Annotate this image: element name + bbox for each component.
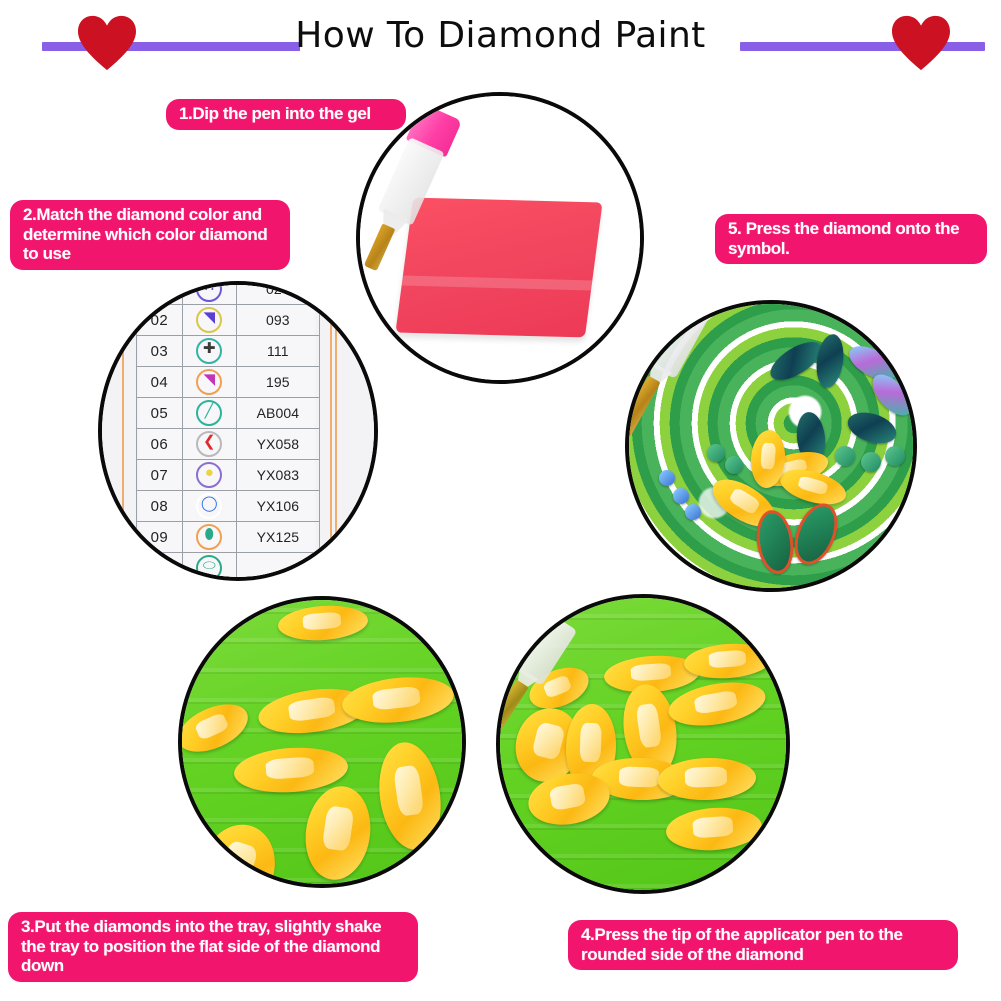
step-3-photo [178, 596, 466, 888]
green-leaf-symbol: ⬮ [182, 522, 236, 553]
chart-row-code [236, 553, 319, 582]
chart-row-code: 195 [236, 367, 319, 398]
color-chart-table: 01∷02002◥09303✚11104◥19505╱AB00406❮YX058… [136, 281, 320, 581]
placed-diamond [707, 444, 725, 462]
chart-row-code: AB004 [236, 398, 319, 429]
chart-margin-line [122, 281, 124, 581]
chart-row: 02◥093 [137, 305, 320, 336]
chart-row-number: 10 [137, 553, 183, 582]
chart-row-number: 04 [137, 367, 183, 398]
chart-margin-line [335, 281, 337, 581]
chart-row-code: YX106 [236, 491, 319, 522]
chart-row: 09⬮YX125 [137, 522, 320, 553]
step-3-label: 3.Put the diamonds into the tray, slight… [8, 912, 418, 982]
plus-cross-symbol: ✚ [196, 338, 222, 364]
chart-row-number: 03 [137, 336, 183, 367]
diamond-tray-illustration [182, 600, 462, 884]
infographic-canvas: How To Diamond Paint 1.Dip the pen into … [0, 0, 1001, 1001]
chart-row: 08◯YX106 [137, 491, 320, 522]
triangle-corner-symbol: ◥ [182, 305, 236, 336]
chart-row: 07●YX083 [137, 460, 320, 491]
yellow-filled-circle-symbol: ● [196, 462, 222, 488]
header-banner: How To Diamond Paint [0, 0, 1001, 80]
teal-oval-symbol: ⬭ [196, 555, 222, 581]
step-2-photo: 01∷02002◥09303✚11104◥19505╱AB00406❮YX058… [98, 281, 378, 581]
yellow-filled-circle-symbol: ● [182, 460, 236, 491]
placed-diamond [861, 452, 881, 472]
step-1-photo [356, 92, 644, 384]
placed-diamond [673, 488, 689, 504]
blue-ring-symbol: ◯ [182, 491, 236, 522]
color-chart-illustration: 01∷02002◥09303✚11104◥19505╱AB00406❮YX058… [102, 285, 374, 577]
placed-diamond [659, 470, 675, 486]
pen-picking-diamond-illustration [500, 598, 786, 890]
chart-row-number: 09 [137, 522, 183, 553]
chart-row-code: 111 [236, 336, 319, 367]
triangle-corner-symbol: ◥ [196, 307, 222, 333]
chart-row-code: 093 [236, 305, 319, 336]
placed-diamond [885, 446, 905, 466]
blue-ring-symbol: ◯ [196, 493, 222, 519]
green-leaf-symbol: ⬮ [196, 524, 222, 550]
teal-slash-oval-symbol: ╱ [182, 398, 236, 429]
placed-diamond [685, 504, 701, 520]
chart-row-code: 020 [236, 281, 319, 305]
step-5-label: 5. Press the diamond onto the symbol. [715, 214, 987, 264]
chart-row: 01∷020 [137, 281, 320, 305]
red-left-arrow-symbol: ❮ [196, 431, 222, 457]
magenta-triangle-symbol: ◥ [182, 367, 236, 398]
chart-row-number: 01 [137, 281, 183, 305]
chart-row: 05╱AB004 [137, 398, 320, 429]
chart-row-number: 06 [137, 429, 183, 460]
placed-diamond [725, 456, 743, 474]
chart-row: 03✚111 [137, 336, 320, 367]
chart-row-number: 05 [137, 398, 183, 429]
mosaic-canvas-illustration [629, 304, 913, 588]
pink-gel-pad [395, 198, 602, 338]
chart-row: 10⬭ [137, 553, 320, 582]
step-1-label: 1.Dip the pen into the gel [166, 99, 406, 130]
teal-oval-symbol: ⬭ [182, 553, 236, 582]
teal-slash-oval-symbol: ╱ [196, 400, 222, 426]
step-5-photo [625, 300, 917, 592]
step-4-photo [496, 594, 790, 894]
magenta-triangle-symbol: ◥ [196, 369, 222, 395]
chart-row: 04◥195 [137, 367, 320, 398]
chart-row-code: YX058 [236, 429, 319, 460]
chart-row: 06❮YX058 [137, 429, 320, 460]
chart-row-number: 02 [137, 305, 183, 336]
chart-row-code: YX083 [236, 460, 319, 491]
double-dot-circle-symbol: ∷ [196, 281, 222, 302]
chart-row-code: YX125 [236, 522, 319, 553]
pen-gel-illustration [360, 96, 640, 380]
chart-row-number: 07 [137, 460, 183, 491]
page-title: How To Diamond Paint [0, 15, 1001, 56]
chart-margin-line [330, 281, 332, 581]
step-2-label: 2.Match the diamond color and determine … [10, 200, 290, 270]
step-4-label: 4.Press the tip of the applicator pen to… [568, 920, 958, 970]
placed-diamond [835, 446, 855, 466]
red-left-arrow-symbol: ❮ [182, 429, 236, 460]
chart-row-number: 08 [137, 491, 183, 522]
double-dot-circle-symbol: ∷ [182, 281, 236, 305]
plus-cross-symbol: ✚ [182, 336, 236, 367]
